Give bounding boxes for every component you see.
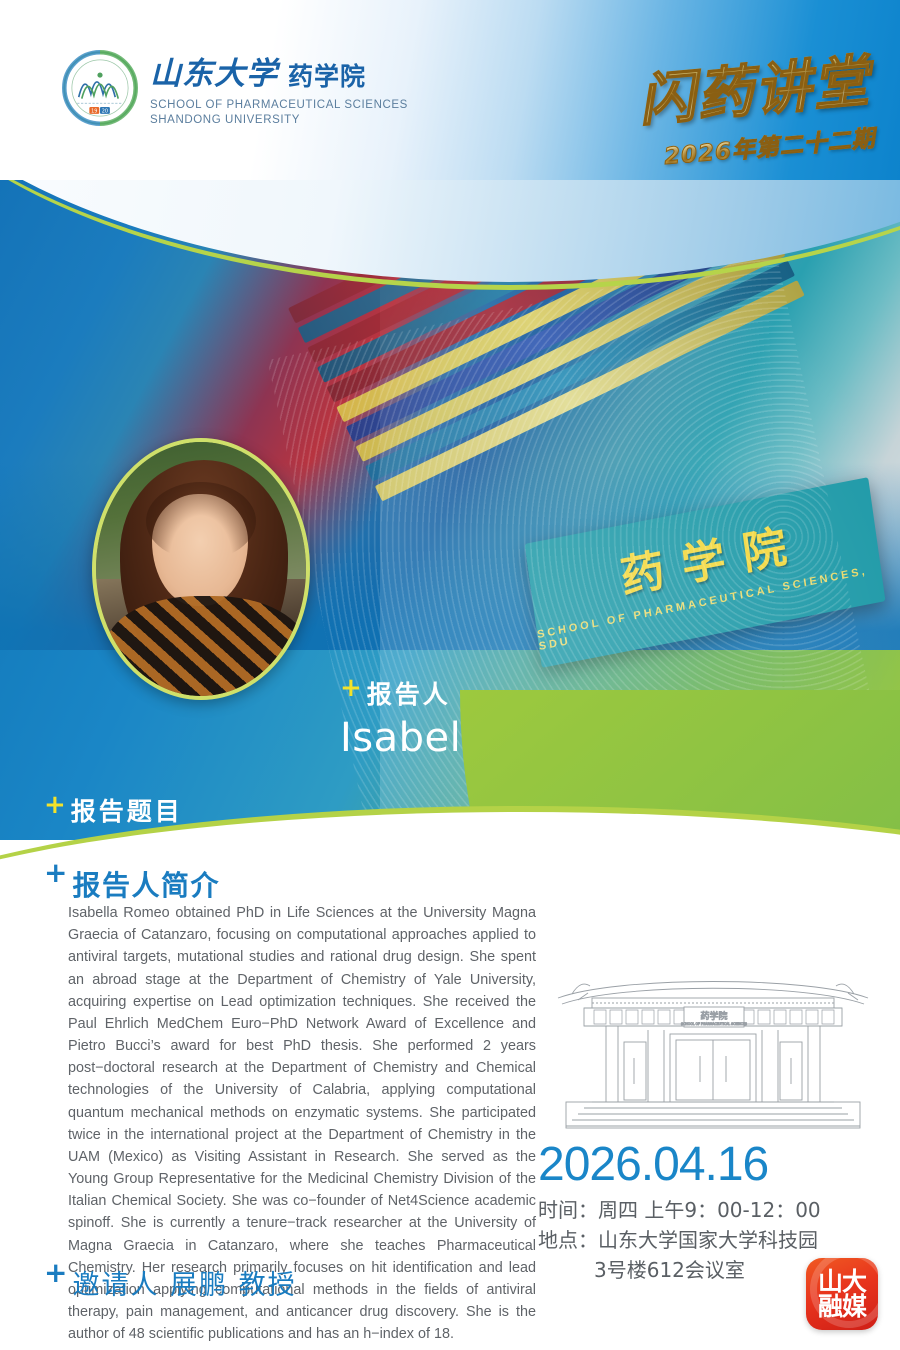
plus-icon: +: [340, 675, 362, 701]
university-logo: 19 20 山东大学 药学院 SCHOOL OF PHARMACEUTICAL …: [62, 48, 408, 127]
plus-icon: +: [44, 792, 66, 818]
speaker-avatar: [92, 438, 310, 700]
media-logo-line2: 融媒: [818, 1294, 866, 1320]
poster-header: 19 20 山东大学 药学院 SCHOOL OF PHARMACEUTICAL …: [0, 0, 900, 180]
svg-text:19: 19: [91, 108, 97, 114]
speaker-label: 报告人: [367, 675, 451, 711]
plus-icon: +: [44, 860, 67, 885]
plus-icon: +: [44, 1260, 67, 1285]
inviter-row: + 邀请人 展鹏 教授: [44, 1260, 297, 1302]
sdu-media-logo: 山大 融媒: [806, 1258, 878, 1330]
media-logo-line1: 山大: [818, 1269, 866, 1295]
org-name-en: SCHOOL OF PHARMACEUTICAL SCIENCES SHANDO…: [150, 98, 408, 127]
event-time: 时间：周四 上午9：00-12：00: [538, 1196, 878, 1226]
svg-text:药学院: 药学院: [700, 1010, 727, 1022]
university-logo-text: 山东大学 药学院 SCHOOL OF PHARMACEUTICAL SCIENC…: [150, 48, 408, 127]
body-section: + 报告人简介 Isabella Romeo obtained PhD in L…: [0, 840, 900, 1350]
event-date: 2026.04.16: [538, 1140, 878, 1190]
org-school-cn: 药学院: [288, 57, 366, 93]
avatar-clothing: [106, 596, 306, 700]
bio-section-title: 报告人简介: [72, 864, 220, 904]
avatar-hair-front: [146, 482, 256, 560]
svg-text:SCHOOL OF PHARMACEUTICAL SCIEN: SCHOOL OF PHARMACEUTICAL SCIENCES: [681, 1022, 747, 1026]
event-location-line1: 地点：山东大学国家大学科技园: [538, 1226, 878, 1256]
poster-root: 19 20 山东大学 药学院 SCHOOL OF PHARMACEUTICAL …: [0, 0, 900, 1350]
school-gate-illustration: 药学院 SCHOOL OF PHARMACEUTICAL SCIENCES: [548, 960, 878, 1135]
inviter-text: 邀请人 展鹏 教授: [72, 1263, 296, 1302]
org-en-line1: SCHOOL OF PHARMACEUTICAL SCIENCES: [150, 98, 408, 113]
svg-text:20: 20: [102, 108, 108, 114]
org-name-cn: 山东大学: [150, 48, 278, 93]
university-seal-icon: 19 20: [62, 50, 138, 126]
org-en-line2: SHANDONG UNIVERSITY: [150, 113, 408, 128]
bio-heading: + 报告人简介: [44, 860, 220, 904]
talk-title-label: 报告题目: [71, 792, 183, 828]
series-banner: 闪药讲堂 2026年第二十二期: [635, 36, 876, 173]
